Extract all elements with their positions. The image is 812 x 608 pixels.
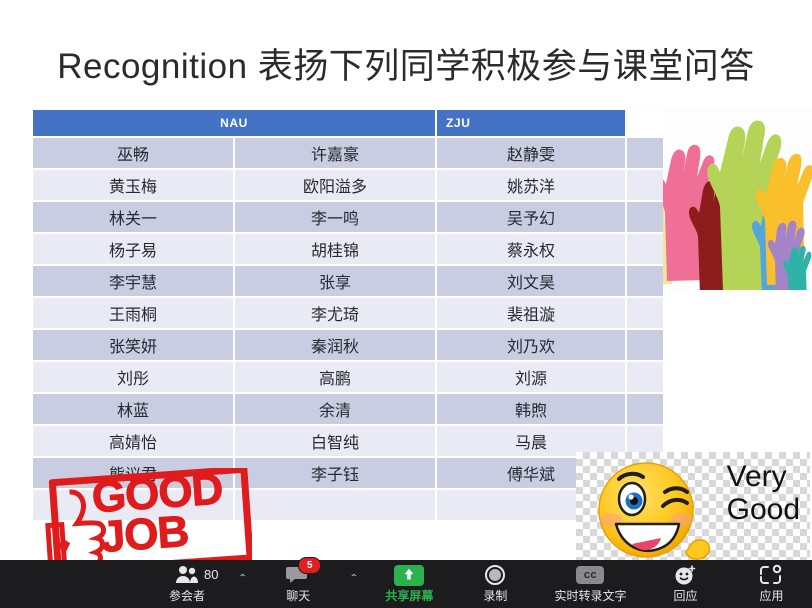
table-cell: 韩煦 [436,393,626,425]
record-icon [482,564,508,586]
toolbar-item-share-screen[interactable]: 共享屏幕 [372,560,446,608]
table-cell: 赵静雯 [436,137,626,169]
page-title: Recognition 表扬下列同学积极参与课堂问答 [0,38,812,89]
table-cell: 刘乃欢 [436,329,626,361]
table-cell [626,201,663,233]
share-screen-icon-wrap [394,564,424,586]
table-cell: 胡桂锦 [234,233,436,265]
table-cell [626,361,663,393]
table-cell: 高婧怡 [33,425,234,457]
toolbar-item-label: 录制 [483,587,507,604]
table-cell: 吴予幻 [436,201,626,233]
toolbar-item-participants[interactable]: 80参会者 [150,560,224,608]
very-good-clipart: Very Good [576,452,810,560]
reactions-icon-wrap [672,564,698,586]
table-row: 刘彤高鹏刘源 [33,361,663,393]
table-cell: 白智纯 [234,425,436,457]
table-cell: 王雨桐 [33,297,234,329]
toolbar-item-label: 参会者 [169,587,205,604]
table-cell: 林蓝 [33,393,234,425]
table-cell [626,329,663,361]
table-row: 李宇慧张享刘文昊 [33,265,663,297]
table-cell [234,489,436,521]
table-cell [626,297,663,329]
table-row: 林蓝余清韩煦 [33,393,663,425]
table-header-row: NAU ZJU [33,110,663,137]
participants-icon [174,564,200,586]
table-row: 黄玉梅欧阳溢多姚苏洋 [33,169,663,201]
table-cell [626,265,663,297]
toolbar-item-apps[interactable]: 应用 [734,560,808,608]
column-header-nau: NAU [33,110,436,137]
table-row: 高婧怡白智纯马晨 [33,425,663,457]
toolbar-item-chat[interactable]: 5聊天 [261,560,335,608]
table-cell: 高鹏 [234,361,436,393]
closed-caption-icon-wrap: cc [576,564,604,586]
record-icon-wrap [482,564,508,586]
table-cell [626,169,663,201]
stamp-text: GOOD JOB [91,469,227,558]
table-cell: 杨子易 [33,233,234,265]
reactions-icon [672,564,698,586]
table-cell: 李尤琦 [234,297,436,329]
page-title-chinese: 表扬下列同学积极参与课堂问答 [258,47,755,86]
table-cell: 张笑妍 [33,329,234,361]
table-cell: 蔡永权 [436,233,626,265]
closed-caption-icon: cc [576,566,604,584]
table-cell: 许嘉豪 [234,137,436,169]
table-cell: 裴祖漩 [436,297,626,329]
presentation-slide: Recognition 表扬下列同学积极参与课堂问答 [0,0,812,608]
table-row: 杨子易胡桂锦蔡永权 [33,233,663,265]
table-cell: 秦润秋 [234,329,436,361]
winking-smiley-icon [580,454,730,560]
toolbar-item-record[interactable]: 录制 [458,560,532,608]
table-row: 王雨桐李尤琦裴祖漩 [33,297,663,329]
toolbar-item-reactions[interactable]: 回应 [648,560,722,608]
table-cell: 姚苏洋 [436,169,626,201]
recognition-table: NAU ZJU 巫畅许嘉豪赵静雯黄玉梅欧阳溢多姚苏洋林关一李一鸣吴予幻杨子易胡桂… [33,110,663,522]
table-cell [626,137,663,169]
column-header-zju: ZJU [436,110,626,137]
table-cell: 余清 [234,393,436,425]
table-cell: 张享 [234,265,436,297]
toolbar-items: 80参会者⌃5聊天⌃共享屏幕录制cc实时转录文字回应应用 [150,560,808,608]
chat-unread-badge: 5 [298,557,321,574]
table-cell [626,233,663,265]
chevron-up-icon[interactable]: ⌃ [238,572,247,582]
page-title-english: Recognition [57,47,247,86]
table-row: 巫畅许嘉豪赵静雯 [33,137,663,169]
table-cell: 黄玉梅 [33,169,234,201]
chat-icon-wrap: 5 [285,564,311,586]
good-job-stamp: GOOD JOB [2,468,252,568]
table-cell: 刘彤 [33,361,234,393]
very-good-line-2: Good [727,493,800,526]
table-cell: 林关一 [33,201,234,233]
chevron-up-icon[interactable]: ⌃ [349,572,358,582]
participant-count: 80 [204,567,218,582]
share-screen-icon [401,566,417,584]
column-header-blank [626,110,663,137]
toolbar-item-label: 回应 [673,587,697,604]
table-row: 林关一李一鸣吴予幻 [33,201,663,233]
table-cell: 刘文昊 [436,265,626,297]
table-cell: 巫畅 [33,137,234,169]
table-cell: 刘源 [436,361,626,393]
zoom-toolbar: 80参会者⌃5聊天⌃共享屏幕录制cc实时转录文字回应应用 [0,560,812,608]
very-good-text: Very Good [727,460,800,526]
participants-icon-wrap: 80 [174,564,200,586]
toolbar-item-label: 聊天 [286,587,310,604]
toolbar-item-label: 共享屏幕 [385,587,433,604]
toolbar-item-closed-caption[interactable]: cc实时转录文字 [544,560,636,608]
table-cell [626,393,663,425]
table-cell: 欧阳溢多 [234,169,436,201]
table-body: 巫畅许嘉豪赵静雯黄玉梅欧阳溢多姚苏洋林关一李一鸣吴予幻杨子易胡桂锦蔡永权李宇慧张… [33,137,663,521]
table-row: 张笑妍秦润秋刘乃欢 [33,329,663,361]
apps-icon [758,564,784,586]
toolbar-item-label: 实时转录文字 [554,587,626,604]
share-screen-icon [394,565,424,586]
toolbar-item-label: 应用 [759,587,783,604]
apps-icon-wrap [758,564,784,586]
table-cell: 李子钰 [234,457,436,489]
table-cell: 李宇慧 [33,265,234,297]
table-cell: 李一鸣 [234,201,436,233]
very-good-line-1: Very [727,460,800,493]
